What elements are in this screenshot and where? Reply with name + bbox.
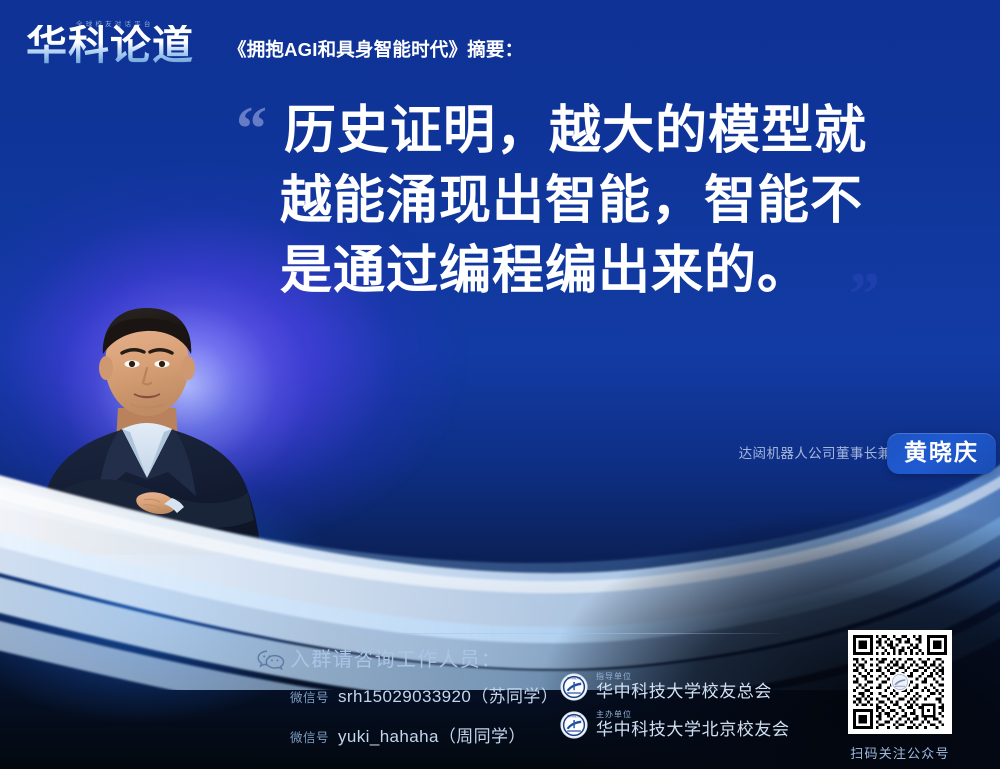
contact-label-2: 微信号 [290, 727, 329, 746]
organization-kind-guidance: 指导单位 [596, 673, 772, 681]
quote-line-2: 越能涌现出智能，智能不 [280, 166, 960, 236]
contact-value-2[interactable]: yuki_hahaha（周同学） [338, 722, 526, 747]
organization-text-guidance: 指导单位 华中科技大学校友总会 [596, 673, 772, 701]
university-seal-icon: 华中科技大学 [560, 711, 588, 739]
organizations: 华中科技大学 指导单位 华中科技大学校友总会 华中科技大学 [560, 668, 820, 744]
organization-name-host: 华中科技大学北京校友会 [596, 721, 790, 739]
quote-line-1: 历史证明，越大的模型就 [284, 96, 960, 166]
footer-heading: 入群请咨询工作人员： [290, 643, 502, 672]
qr-center-seal-icon [890, 672, 910, 692]
svg-text:华中科技大学: 华中科技大学 [567, 676, 582, 680]
organization-name-guidance: 华中科技大学校友总会 [596, 683, 772, 701]
qr-caption: 扫码关注公众号 [838, 743, 962, 762]
poster-header: 全球校友对话平台 华科论道 《拥抱AGI和具身智能时代》摘要： [0, 0, 1000, 92]
footer-divider [286, 633, 780, 634]
contact-value-1[interactable]: srh15029033920（苏同学） [338, 682, 558, 707]
organization-row-host: 华中科技大学 主办单位 华中科技大学北京校友会 [560, 706, 820, 744]
svg-text:华中科技大学: 华中科技大学 [567, 714, 582, 718]
contact-label-1: 微信号 [290, 687, 329, 706]
qr-code-icon[interactable] [848, 630, 952, 734]
page-title: 《拥抱AGI和具身智能时代》摘要： [228, 36, 523, 62]
speaker-name-badge: 黄晓庆 [887, 433, 996, 474]
brand-logo-text: 华科论道 [26, 25, 194, 66]
contact-row-2: 微信号 yuki_hahaha（周同学） [290, 722, 526, 747]
wechat-icon [256, 648, 286, 670]
attribution: 达闼机器人公司董事长兼CEO 黄晓庆 [739, 442, 922, 462]
quote-close-icon: ” [849, 264, 880, 326]
poster-root: 全球校友对话平台 华科论道 《拥抱AGI和具身智能时代》摘要： “ 历史证明，越… [0, 0, 1000, 769]
university-seal-icon: 华中科技大学 [560, 673, 588, 701]
organization-row-guidance: 华中科技大学 指导单位 华中科技大学校友总会 [560, 668, 820, 706]
quote-block: “ 历史证明，越大的模型就 越能涌现出智能，智能不 是通过编程编出来的。 ” [236, 96, 966, 346]
quote-open-icon: “ [236, 98, 267, 160]
qr-section: 扫码关注公众号 [838, 630, 962, 762]
organization-kind-host: 主办单位 [596, 711, 790, 719]
contact-row-1: 微信号 srh15029033920（苏同学） [290, 682, 558, 707]
organization-text-host: 主办单位 华中科技大学北京校友会 [596, 711, 790, 739]
brand-logo: 全球校友对话平台 华科论道 [26, 15, 212, 77]
